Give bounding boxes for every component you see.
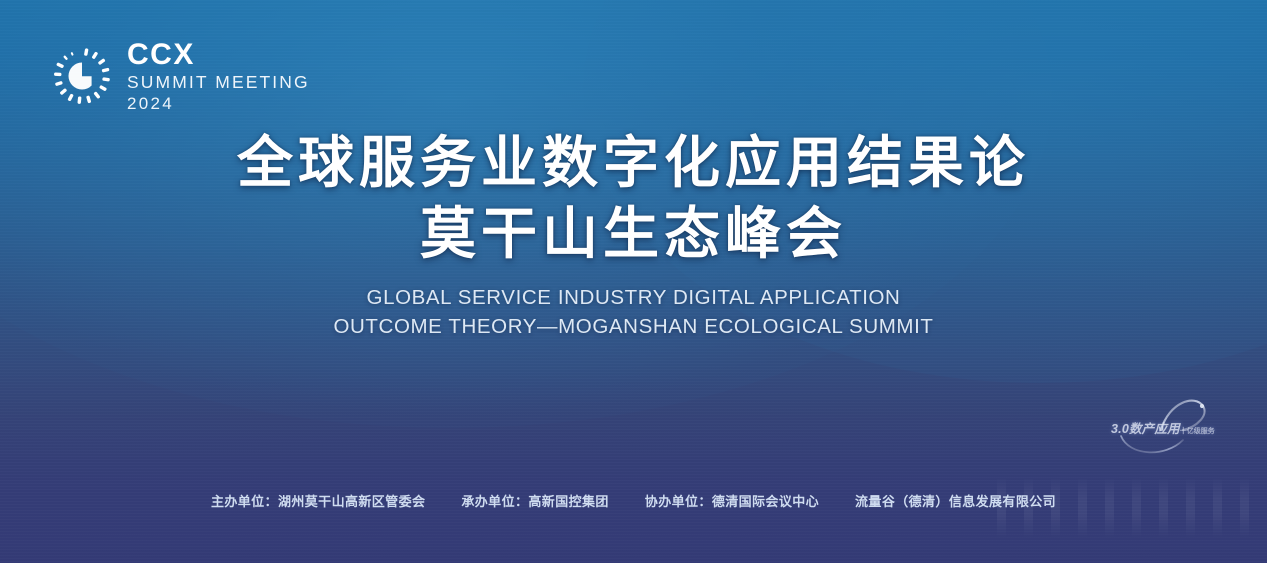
- credit-partner: 流量谷（德清）信息发展有限公司: [855, 491, 1056, 510]
- page-title: 全球服务业数字化应用结果论 莫干山生态峰会: [0, 128, 1267, 269]
- ccx-radial-dial-icon: [51, 45, 113, 107]
- credit-partner-org: 流量谷（德清）信息发展有限公司: [855, 494, 1056, 509]
- brand-name: CCX: [127, 40, 310, 70]
- watermark-label-suffix: 十亿级服务: [1180, 428, 1215, 435]
- credit-organizer-org: 湖州莫干山高新区管委会: [278, 494, 425, 509]
- credit-coorganizer-role: 协办单位：: [645, 494, 712, 509]
- footer-credits: 主办单位：湖州莫干山高新区管委会 承办单位：高新国控集团 协办单位：德清国际会议…: [0, 491, 1267, 510]
- brand-wordmark: CCX SUMMIT MEETING 2024: [127, 40, 310, 112]
- background-glow-bottom: [0, 372, 1267, 563]
- page-subtitle: GLOBAL SERVICE INDUSTRY DIGITAL APPLICAT…: [0, 283, 1267, 341]
- credit-coorganizer-org: 德清国际会议中心: [712, 494, 819, 509]
- orbit-swoosh-icon: 3.0数产应用十亿级服务: [1103, 396, 1221, 458]
- subtitle-en-line-1: GLOBAL SERVICE INDUSTRY DIGITAL APPLICAT…: [0, 283, 1267, 312]
- poster-canvas: CCX SUMMIT MEETING 2024 全球服务业数字化应用结果论 莫干…: [0, 0, 1267, 563]
- credit-host: 承办单位：高新国控集团: [461, 491, 608, 510]
- brand-lockup: CCX SUMMIT MEETING 2024: [51, 40, 310, 112]
- watermark-label: 3.0数产应用十亿级服务: [1111, 418, 1215, 437]
- watermark-label-main: 3.0数产应用: [1111, 422, 1180, 436]
- headline-block: 全球服务业数字化应用结果论 莫干山生态峰会 GLOBAL SERVICE IND…: [0, 128, 1267, 341]
- credit-host-role: 承办单位：: [461, 494, 528, 509]
- title-cn-line-1: 全球服务业数字化应用结果论: [237, 131, 1030, 194]
- brand-year: 2024: [127, 95, 310, 112]
- credit-organizer-role: 主办单位：: [211, 494, 278, 509]
- brand-subtitle: SUMMIT MEETING: [127, 74, 310, 92]
- title-cn-line-2: 莫干山生态峰会: [0, 199, 1267, 270]
- credit-organizer: 主办单位：湖州莫干山高新区管委会: [211, 491, 425, 510]
- credit-host-org: 高新国控集团: [528, 494, 608, 509]
- subtitle-en-line-2: OUTCOME THEORY—MOGANSHAN ECOLOGICAL SUMM…: [0, 312, 1267, 341]
- credit-coorganizer: 协办单位：德清国际会议中心: [645, 491, 819, 510]
